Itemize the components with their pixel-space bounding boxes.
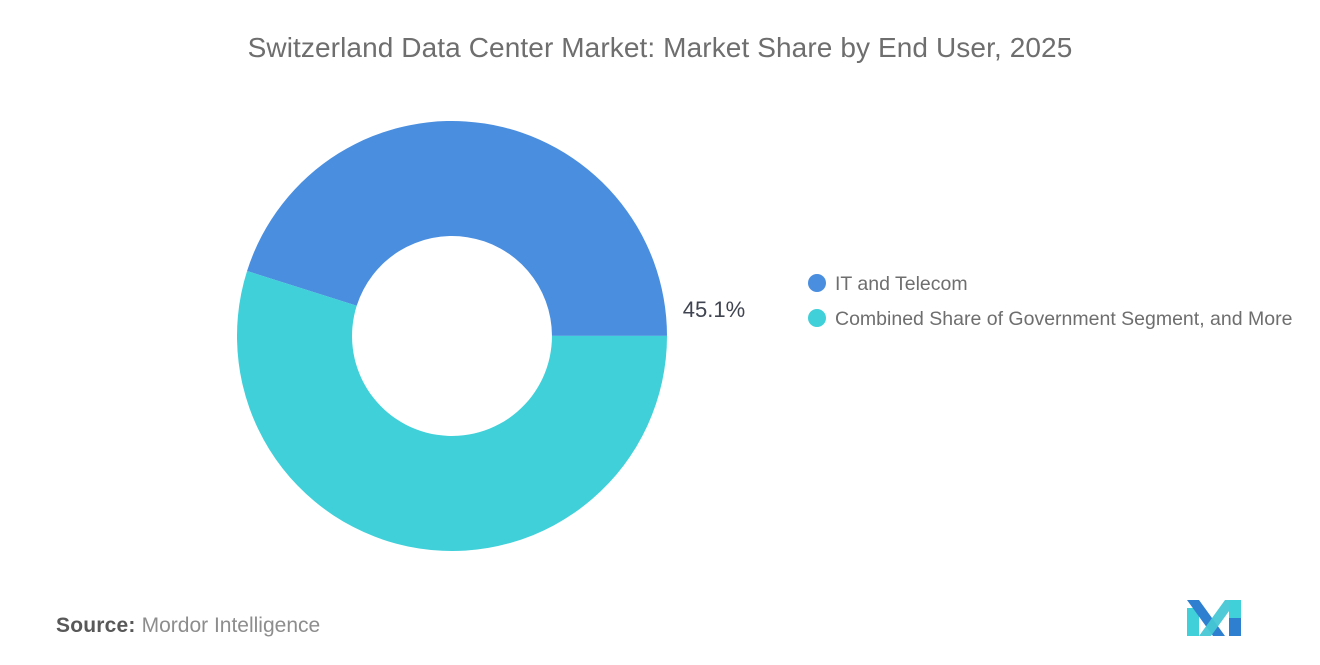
- donut-chart-svg: [237, 121, 667, 551]
- donut-slices: [237, 121, 667, 551]
- logo-mark: [1185, 598, 1253, 638]
- legend-item-combined-share-of-government-segment-and-more[interactable]: Combined Share of Government Segment, an…: [808, 305, 1308, 333]
- chart-title: Switzerland Data Center Market: Market S…: [0, 28, 1320, 68]
- mordor-intelligence-logo-icon: [1185, 598, 1253, 638]
- source-label: Source:: [56, 614, 136, 637]
- legend-color-swatch-icon: [808, 274, 826, 292]
- legend-item-label: Combined Share of Government Segment, an…: [835, 305, 1292, 333]
- legend-color-swatch-icon: [808, 309, 826, 327]
- legend-item-it-and-telecom[interactable]: IT and Telecom: [808, 270, 1308, 298]
- source-value: Mordor Intelligence: [142, 614, 321, 637]
- chart-legend: IT and Telecom Combined Share of Governm…: [808, 270, 1308, 340]
- source-attribution: Source:Mordor Intelligence: [56, 611, 320, 641]
- donut-chart: 45.1%: [237, 121, 667, 551]
- legend-item-label: IT and Telecom: [835, 270, 968, 298]
